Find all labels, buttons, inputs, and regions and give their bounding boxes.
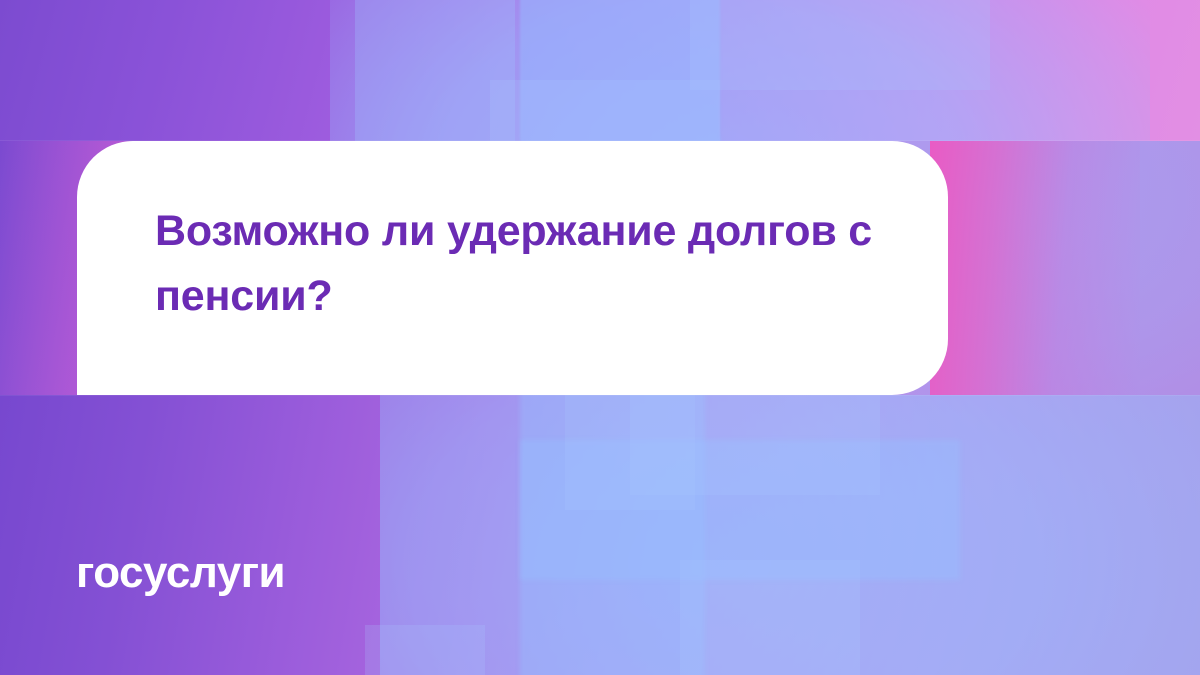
banner-canvas: Возможно ли удержание долгов с пенсии? г… (0, 0, 1200, 675)
band-bottom-gradient (0, 395, 1200, 675)
background-band-bottom (0, 395, 1200, 675)
background-band-top (0, 0, 1200, 141)
pink-accent-right (930, 141, 1140, 395)
page-title: Возможно ли удержание долгов с пенсии? (155, 199, 895, 330)
band-top-gradient (0, 0, 1200, 141)
content-card: Возможно ли удержание долгов с пенсии? (77, 141, 948, 395)
band-seam-bottom (0, 395, 1200, 396)
gosuslugi-logo: госуслуги (76, 551, 285, 595)
